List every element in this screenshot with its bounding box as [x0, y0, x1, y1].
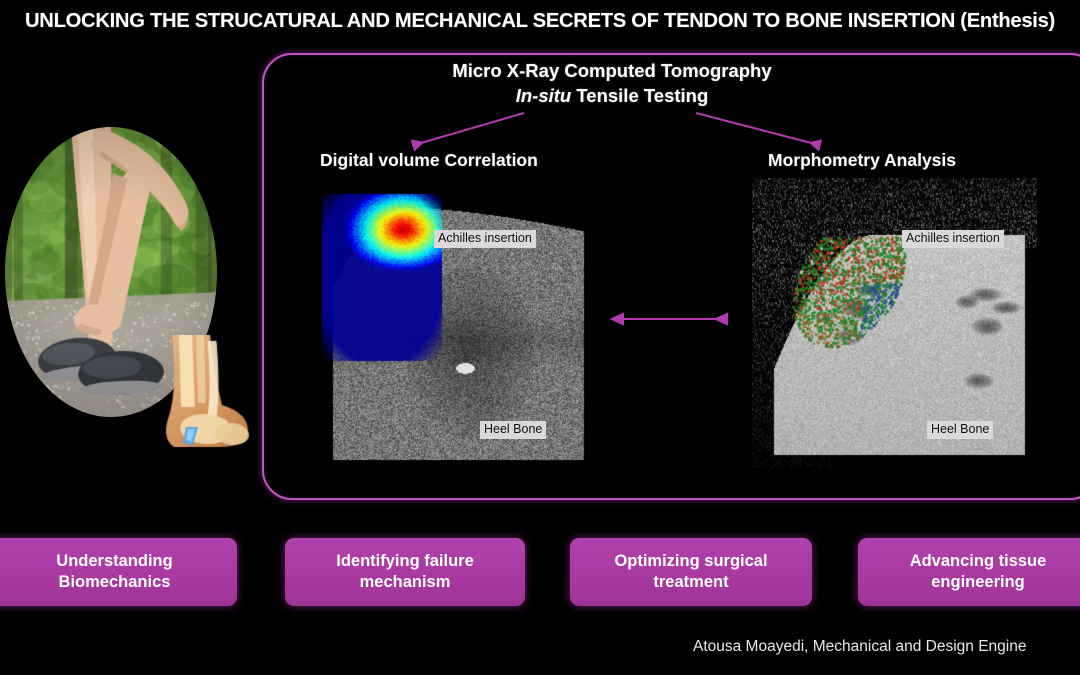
author-credit: Atousa Moayedi, Mechanical and Design En… — [693, 638, 1026, 656]
dvc-heading: Digital volume Correlation — [320, 150, 538, 171]
outcome-line2: mechanism — [360, 573, 451, 591]
outcome-line2: treatment — [653, 573, 728, 591]
morph-achilles-insertion-label: Achilles insertion — [902, 230, 1004, 248]
scan-link-double-arrow-icon — [610, 308, 738, 330]
dvc-scan-image: Achilles insertion Heel Bone — [322, 178, 587, 468]
outcome-button-optimizing-surgical-treatment[interactable]: Optimizing surgical treatment — [570, 538, 812, 606]
branch-arrow-left — [400, 110, 530, 152]
dvc-heel-bone-label: Heel Bone — [480, 421, 546, 439]
outcome-button-identifying-failure-mechanism[interactable]: Identifying failure mechanism — [285, 538, 525, 606]
branch-arrow-right — [688, 110, 833, 152]
morph-heel-bone-label: Heel Bone — [927, 421, 993, 439]
morphometry-scan-image: Achilles insertion Heel Bone — [752, 178, 1037, 468]
morphometry-heading: Morphometry Analysis — [768, 150, 956, 171]
methods-panel-heading: Micro X-Ray Computed Tomography In-situ … — [262, 58, 962, 108]
in-situ-italic: In-situ — [516, 85, 572, 106]
outcome-line1: Optimizing surgical — [614, 552, 767, 570]
outcome-line1: Understanding — [56, 552, 172, 570]
outcome-button-understanding-biomechanics[interactable]: Understanding Biomechanics — [0, 538, 237, 606]
dvc-achilles-insertion-label: Achilles insertion — [434, 230, 536, 248]
methods-heading-line2: In-situ Tensile Testing — [262, 83, 962, 108]
outcome-button-text: Advancing tissue engineering — [910, 551, 1047, 593]
outcome-line2: engineering — [931, 573, 1025, 591]
outcome-button-text: Understanding Biomechanics — [56, 551, 172, 593]
outcome-button-advancing-tissue-engineering[interactable]: Advancing tissue engineering — [858, 538, 1080, 606]
tensile-testing-text: Tensile Testing — [571, 85, 708, 106]
ankle-anatomy-illustration — [152, 335, 250, 455]
outcome-line1: Identifying failure — [336, 552, 474, 570]
outcome-line2: Biomechanics — [59, 573, 171, 591]
methods-heading-line1: Micro X-Ray Computed Tomography — [262, 58, 962, 83]
outcome-button-text: Optimizing surgical treatment — [614, 551, 767, 593]
outcome-line1: Advancing tissue — [910, 552, 1047, 570]
page-title: UNLOCKING THE STRUCATURAL AND MECHANICAL… — [8, 0, 1072, 42]
outcome-button-text: Identifying failure mechanism — [336, 551, 474, 593]
